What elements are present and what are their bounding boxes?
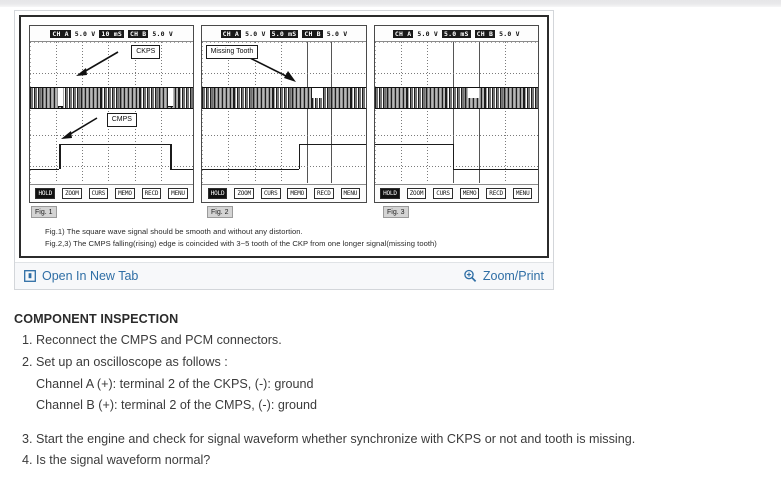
inspection-step-3: 3. Start the engine and check for signal… xyxy=(22,432,759,447)
scope-2-header: CH A 5.0 V 5.0 mS CH B 5.0 V xyxy=(202,26,365,42)
figure-caption-line-1: Fig.1) The square wave signal should be … xyxy=(45,226,437,238)
scope-1-channel-a-chip: CH A xyxy=(50,30,70,38)
scope-3-channel-b-chip: CH B xyxy=(475,30,495,38)
scope-2-button-curs[interactable]: CURS xyxy=(261,188,281,199)
scope-3-graticule xyxy=(375,42,538,183)
scope-panel-row: CH A 5.0 V 10 mS CH B 5.0 V xyxy=(29,25,539,203)
scope-2-button-recd[interactable]: RECD xyxy=(314,188,334,199)
scope-3-button-curs[interactable]: CURS xyxy=(433,188,453,199)
figure-caption-line-2: Fig.2,3) The CMPS falling(rising) edge i… xyxy=(45,238,437,250)
paragraph-spacer xyxy=(14,419,759,432)
top-gradient-strip xyxy=(0,0,781,7)
scope-panel-2: CH A 5.0 V 5.0 mS CH B 5.0 V xyxy=(201,25,366,203)
scope-3-button-hold[interactable]: HOLD xyxy=(380,188,400,199)
scope-1-channel-b-chip: CH B xyxy=(128,30,148,38)
scope-2-graticule: Missing Tooth xyxy=(202,42,365,183)
scope-1-channel-a-value: 5.0 V xyxy=(75,30,96,38)
scope-3-channel-a-value: 5.0 V xyxy=(417,30,438,38)
scope-2-callout-missing-tooth: Missing Tooth xyxy=(206,45,259,60)
magnifier-plus-icon xyxy=(463,269,477,283)
zoom-print-label: Zoom/Print xyxy=(483,269,544,283)
section-heading: COMPONENT INSPECTION xyxy=(14,312,759,326)
external-link-icon xyxy=(24,270,36,282)
scope-1-cmps-arrow xyxy=(59,114,99,140)
scope-1-callout-cmps: CMPS xyxy=(107,113,137,128)
scope-2-button-hold[interactable]: HOLD xyxy=(208,188,228,199)
zoom-print-button[interactable]: Zoom/Print xyxy=(463,269,544,283)
fig-label-2: Fig. 2 xyxy=(207,206,233,218)
scope-3-button-bar: HOLD ZOOM CURS MEMO RECD MENU xyxy=(375,184,538,202)
scope-panel-3: CH A 5.0 V 5.0 mS CH B 5.0 V xyxy=(374,25,539,203)
scope-1-button-recd[interactable]: RECD xyxy=(142,188,162,199)
image-viewer-toolbar: Open In New Tab Zoom/Print xyxy=(15,262,553,289)
scope-1-button-curs[interactable]: CURS xyxy=(89,188,109,199)
scope-2-button-menu[interactable]: MENU xyxy=(341,188,361,199)
scope-1-button-memo[interactable]: MEMO xyxy=(115,188,135,199)
scope-1-button-bar: HOLD ZOOM CURS MEMO RECD MENU xyxy=(30,184,193,202)
scope-2-channel-b-chip: CH B xyxy=(302,30,322,38)
inspection-step-4: 4. Is the signal waveform normal? xyxy=(22,453,759,468)
scope-2-button-bar: HOLD ZOOM CURS MEMO RECD MENU xyxy=(202,184,365,202)
scope-3-cmps-trace xyxy=(375,42,538,183)
scope-3-button-zoom[interactable]: ZOOM xyxy=(407,188,427,199)
scope-2-button-memo[interactable]: MEMO xyxy=(287,188,307,199)
scope-1-button-hold[interactable]: HOLD xyxy=(35,188,55,199)
scope-panel-1: CH A 5.0 V 10 mS CH B 5.0 V xyxy=(29,25,194,203)
scope-1-channel-b-value: 5.0 V xyxy=(152,30,173,38)
scope-1-header: CH A 5.0 V 10 mS CH B 5.0 V xyxy=(30,26,193,42)
scope-3-channel-b-value: 5.0 V xyxy=(499,30,520,38)
fig-label-3: Fig. 3 xyxy=(383,206,409,218)
inspection-step-2: 2. Set up an oscilloscope as follows : xyxy=(22,355,759,370)
image-viewer-card: CH A 5.0 V 10 mS CH B 5.0 V xyxy=(14,10,554,290)
scope-3-channel-a-chip: CH A xyxy=(393,30,413,38)
scope-1-button-menu[interactable]: MENU xyxy=(168,188,188,199)
figure-caption: Fig.1) The square wave signal should be … xyxy=(45,226,437,250)
inspection-step-1: 1. Reconnect the CMPS and PCM connectors… xyxy=(22,333,759,348)
scope-3-button-memo[interactable]: MEMO xyxy=(460,188,480,199)
scope-3-button-menu[interactable]: MENU xyxy=(513,188,533,199)
scope-2-channel-a-value: 5.0 V xyxy=(245,30,266,38)
open-in-new-tab-label: Open In New Tab xyxy=(42,269,138,283)
scope-2-button-zoom[interactable]: ZOOM xyxy=(234,188,254,199)
scope-1-timebase-chip: 10 mS xyxy=(99,30,124,38)
scope-3-timebase-chip: 5.0 mS xyxy=(442,30,471,38)
fig-label-1: Fig. 1 xyxy=(31,206,57,218)
scope-2-channel-b-value: 5.0 V xyxy=(327,30,348,38)
scope-3-header: CH A 5.0 V 5.0 mS CH B 5.0 V xyxy=(375,26,538,42)
scope-1-ckps-arrow xyxy=(74,49,120,77)
scope-1-graticule: CKPS CMPS xyxy=(30,42,193,183)
scope-1-callout-ckps: CKPS xyxy=(131,45,160,60)
page-root: CH A 5.0 V 10 mS CH B 5.0 V xyxy=(0,0,781,478)
waveform-figure-image: CH A 5.0 V 10 mS CH B 5.0 V xyxy=(19,15,549,258)
scope-3-button-recd[interactable]: RECD xyxy=(486,188,506,199)
channel-a-setup: Channel A (+): terminal 2 of the CKPS, (… xyxy=(36,377,759,392)
channel-b-setup: Channel B (+): terminal 2 of the CMPS, (… xyxy=(36,398,759,413)
scope-1-button-zoom[interactable]: ZOOM xyxy=(62,188,82,199)
open-in-new-tab-button[interactable]: Open In New Tab xyxy=(24,269,138,283)
component-inspection-section: COMPONENT INSPECTION 1. Reconnect the CM… xyxy=(14,312,759,474)
scope-2-channel-a-chip: CH A xyxy=(221,30,241,38)
scope-2-timebase-chip: 5.0 mS xyxy=(270,30,299,38)
